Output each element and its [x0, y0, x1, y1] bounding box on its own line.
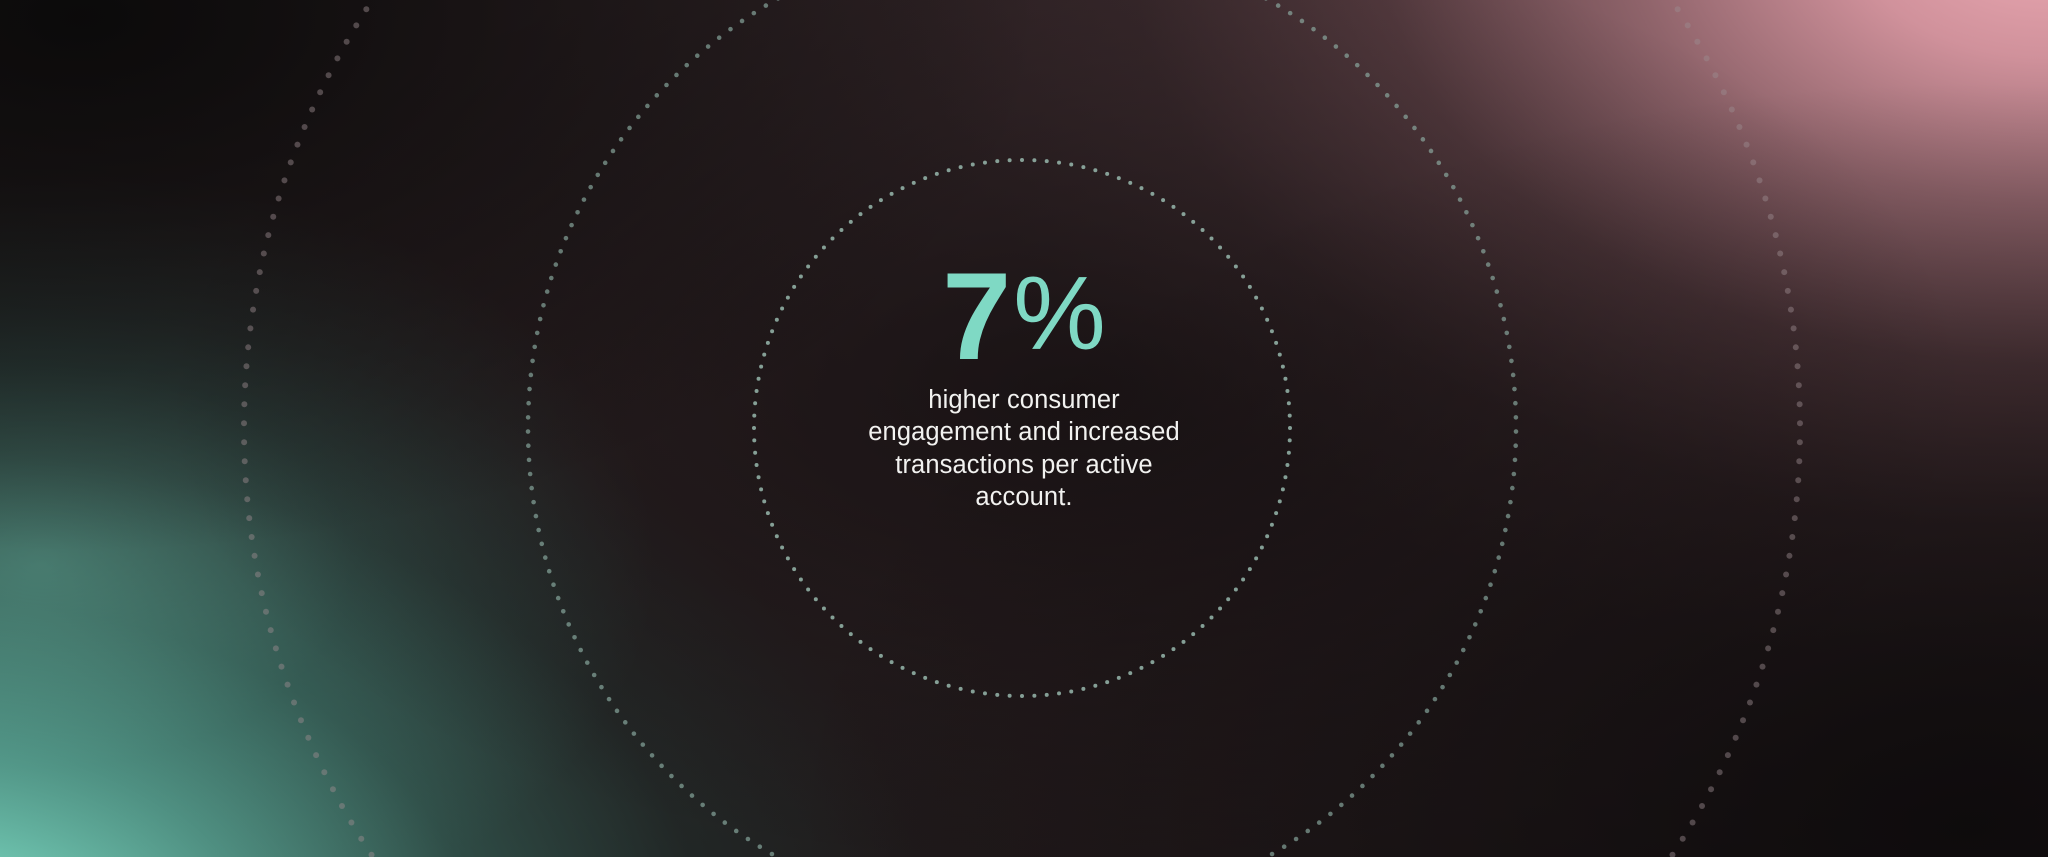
stat-content-block: 7 % higher consumer engagement and incre… — [744, 0, 1304, 857]
stat-number: 7 — [942, 260, 1009, 374]
stat-figure: 7 % — [942, 260, 1105, 374]
stat-unit-percent: % — [1013, 262, 1105, 366]
stat-caption: higher consumer engagement and increased… — [864, 384, 1184, 514]
hero-stat-banner: 7 % higher consumer engagement and incre… — [0, 0, 2048, 857]
